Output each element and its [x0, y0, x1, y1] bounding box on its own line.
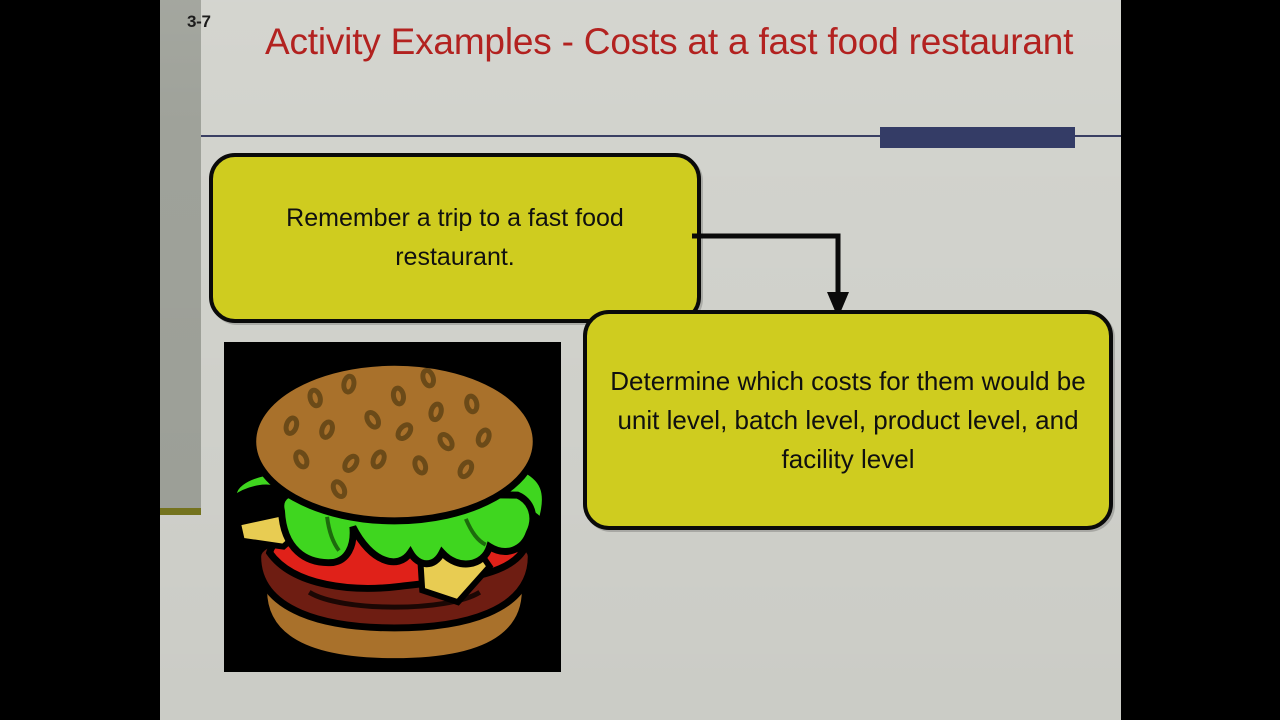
hamburger-image — [224, 342, 561, 672]
screen: 3-7 Activity Examples - Costs at a fast … — [0, 0, 1280, 720]
left-band-foot-accent — [160, 508, 201, 515]
hamburger-icon — [224, 342, 561, 672]
slide-number: 3-7 — [187, 12, 211, 32]
title-accent-bar — [880, 127, 1075, 148]
callout-remember-text: Remember a trip to a fast food restauran… — [213, 199, 697, 277]
callout-box-determine: Determine which costs for them would be … — [583, 310, 1113, 530]
page-title: Activity Examples - Costs at a fast food… — [265, 14, 1075, 70]
presentation-slide: 3-7 Activity Examples - Costs at a fast … — [160, 0, 1121, 720]
callout-box-remember: Remember a trip to a fast food restauran… — [209, 153, 701, 323]
left-decorative-band — [160, 0, 201, 512]
callout-determine-text: Determine which costs for them would be … — [587, 362, 1109, 479]
